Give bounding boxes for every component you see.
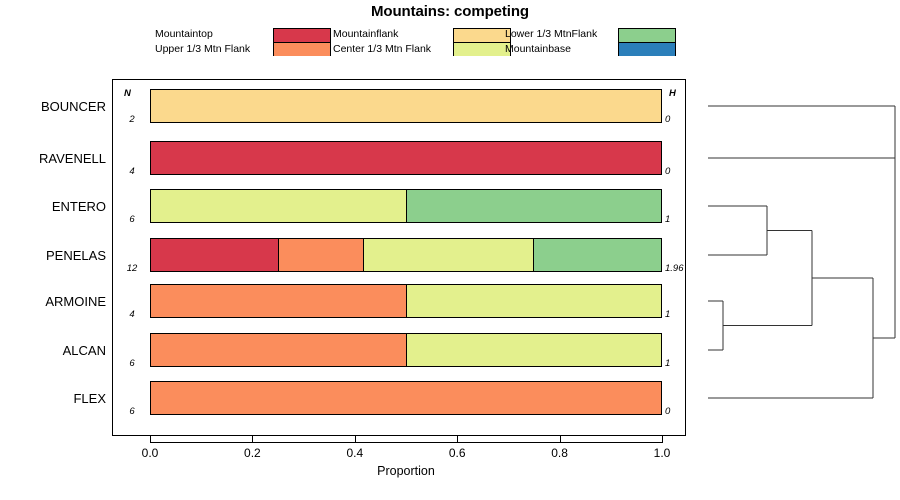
x-axis-line xyxy=(150,442,662,443)
x-tick-label: 0.2 xyxy=(229,446,275,460)
x-tick-label: 0.4 xyxy=(332,446,378,460)
legend-swatch xyxy=(274,29,330,42)
bar-segment[interactable] xyxy=(406,285,662,317)
chart-title: Mountains: competing xyxy=(0,3,900,20)
h-value: 1.96 xyxy=(665,263,705,274)
legend-label: Mountaintop xyxy=(155,27,250,42)
legend-column-1: MountainflankCenter 1/3 Mtn Flank xyxy=(333,27,431,57)
legend-swatch-pair xyxy=(273,28,331,56)
x-tick-label: 0.8 xyxy=(537,446,583,460)
x-tick-mark xyxy=(457,436,458,443)
legend-swatch xyxy=(619,42,675,56)
legend-label: Upper 1/3 Mtn Flank xyxy=(155,42,250,57)
bar-segment[interactable] xyxy=(151,334,406,366)
stacked-bar-alcan[interactable] xyxy=(150,333,662,367)
legend-column-0: MountaintopUpper 1/3 Mtn Flank xyxy=(155,27,250,57)
legend-swatch-pair xyxy=(618,28,676,56)
row-label-flex: FLEX xyxy=(0,392,106,405)
n-value: 12 xyxy=(119,263,145,274)
row-label-alcan: ALCAN xyxy=(0,344,106,357)
x-tick-label: 1.0 xyxy=(639,446,685,460)
legend-column-2: Lower 1/3 MtnFlankMountainbase xyxy=(505,27,597,57)
x-tick-label: 0.0 xyxy=(127,446,173,460)
legend-label: Mountainflank xyxy=(333,27,431,42)
bar-segment[interactable] xyxy=(151,239,278,271)
bar-segment[interactable] xyxy=(151,285,406,317)
stacked-bar-ravenell[interactable] xyxy=(150,141,662,175)
h-value: 1 xyxy=(665,309,705,320)
row-label-bouncer: BOUNCER xyxy=(0,100,106,113)
x-axis-label: Proportion xyxy=(150,464,662,478)
h-column-header: H xyxy=(669,88,676,99)
dendrogram-svg xyxy=(700,79,900,436)
n-value: 6 xyxy=(119,358,145,369)
x-tick-label: 0.6 xyxy=(434,446,480,460)
bar-segment[interactable] xyxy=(151,90,661,122)
bar-segment[interactable] xyxy=(151,190,406,222)
legend-swatch xyxy=(274,42,330,56)
legend-swatch xyxy=(454,29,510,42)
h-value: 1 xyxy=(665,214,705,225)
h-value: 0 xyxy=(665,406,705,417)
h-value: 0 xyxy=(665,114,705,125)
n-column-header: N xyxy=(124,88,131,99)
legend-label: Mountainbase xyxy=(505,42,597,57)
bar-segment[interactable] xyxy=(363,239,533,271)
legend-label: Center 1/3 Mtn Flank xyxy=(333,42,431,57)
x-tick-mark xyxy=(560,436,561,443)
row-label-penelas: PENELAS xyxy=(0,249,106,262)
stacked-bar-armoine[interactable] xyxy=(150,284,662,318)
chart-legend: MountaintopUpper 1/3 Mtn FlankMountainfl… xyxy=(155,27,755,59)
n-value: 6 xyxy=(119,406,145,417)
n-value: 6 xyxy=(119,214,145,225)
dendrogram xyxy=(700,79,900,436)
row-label-armoine: ARMOINE xyxy=(0,295,106,308)
x-tick-mark xyxy=(252,436,253,443)
legend-swatch xyxy=(454,42,510,56)
legend-label: Lower 1/3 MtnFlank xyxy=(505,27,597,42)
stacked-bar-entero[interactable] xyxy=(150,189,662,223)
x-tick-mark xyxy=(355,436,356,443)
bar-segment[interactable] xyxy=(151,382,661,414)
bar-segment[interactable] xyxy=(533,239,661,271)
stacked-bar-flex[interactable] xyxy=(150,381,662,415)
bar-segment[interactable] xyxy=(406,190,662,222)
x-tick-mark xyxy=(150,436,151,443)
row-label-ravenell: RAVENELL xyxy=(0,152,106,165)
h-value: 1 xyxy=(665,358,705,369)
stacked-bar-bouncer[interactable] xyxy=(150,89,662,123)
row-label-entero: ENTERO xyxy=(0,200,106,213)
legend-swatch-pair xyxy=(453,28,511,56)
n-value: 2 xyxy=(119,114,145,125)
chart-canvas: Mountains: competing MountaintopUpper 1/… xyxy=(0,0,900,500)
bar-segment[interactable] xyxy=(406,334,662,366)
legend-swatch xyxy=(619,29,675,42)
bar-segment[interactable] xyxy=(278,239,364,271)
n-value: 4 xyxy=(119,166,145,177)
n-value: 4 xyxy=(119,309,145,320)
h-value: 0 xyxy=(665,166,705,177)
x-tick-mark xyxy=(662,436,663,443)
stacked-bar-penelas[interactable] xyxy=(150,238,662,272)
bar-segment[interactable] xyxy=(151,142,661,174)
